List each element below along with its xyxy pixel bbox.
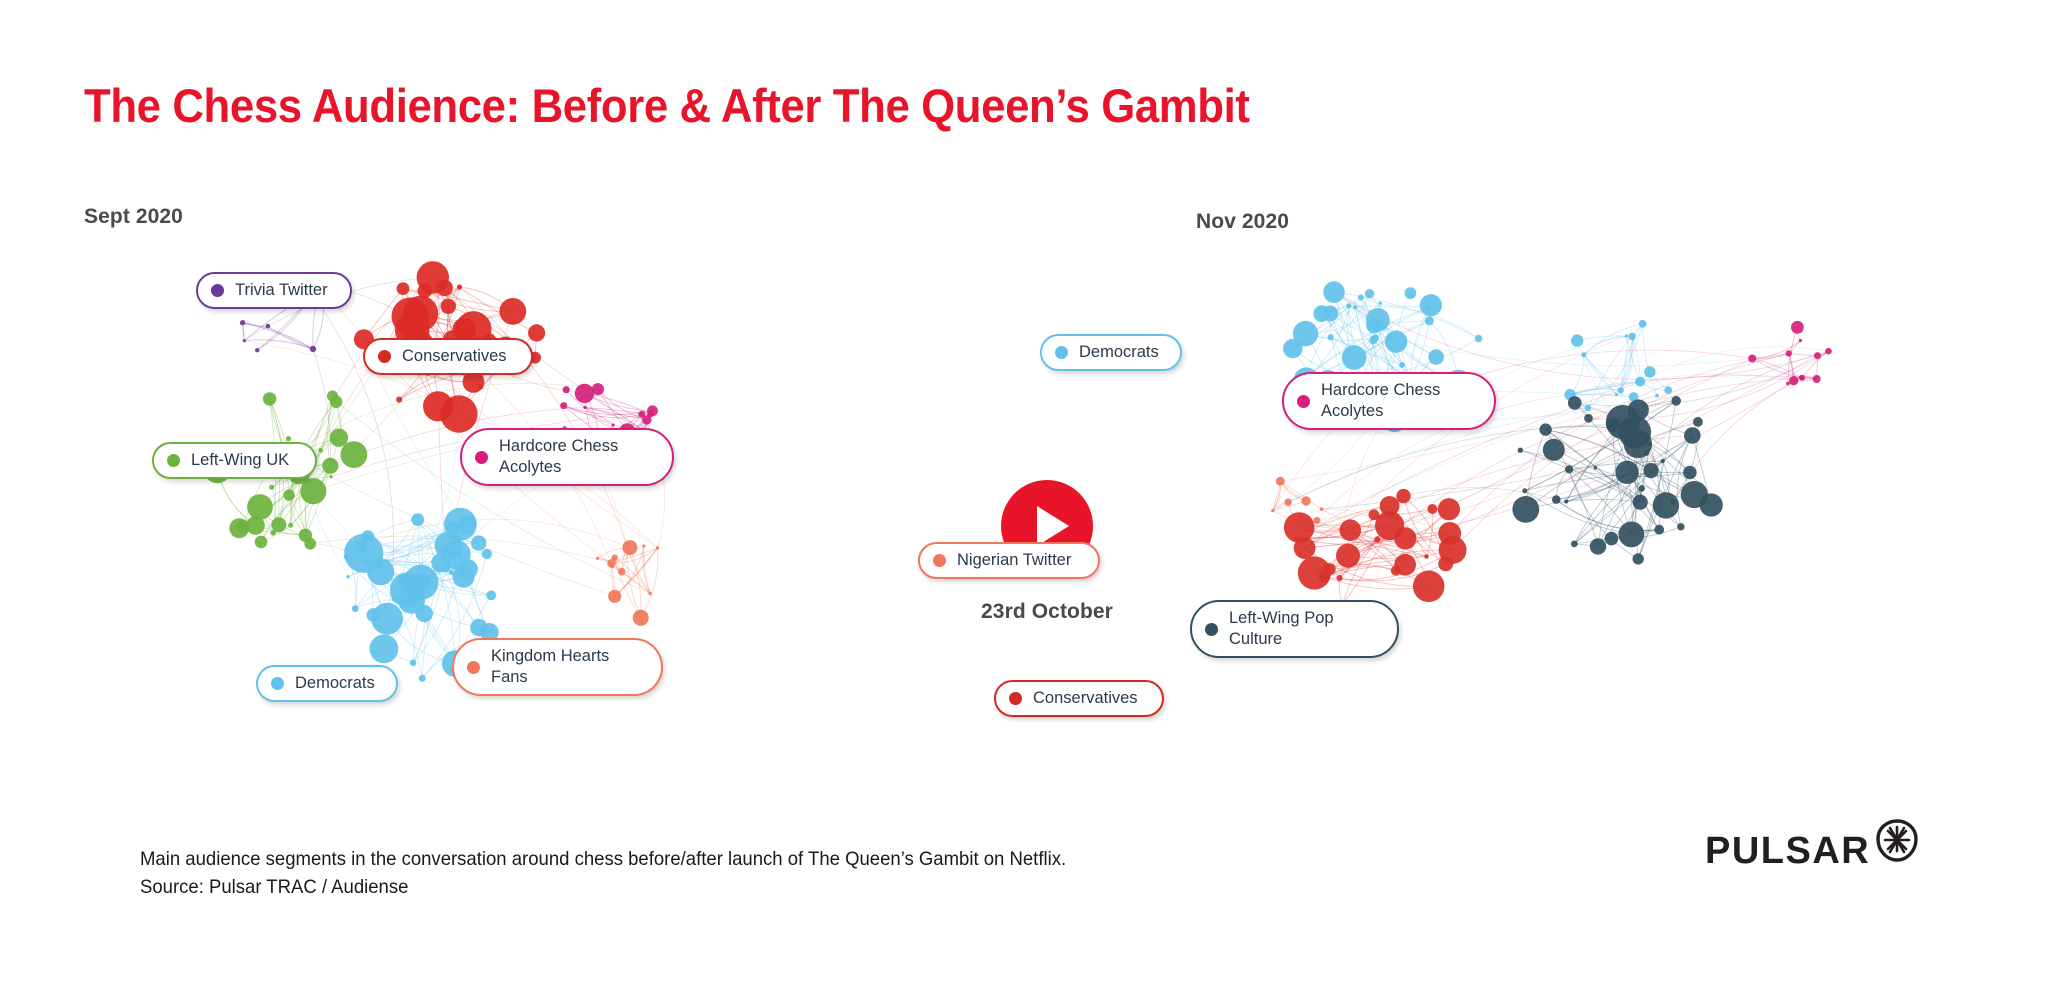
page-title: The Chess Audience: Before & After The Q…	[84, 78, 1250, 133]
graph-node	[1571, 541, 1578, 548]
graph-node	[263, 392, 276, 405]
graph-node	[240, 320, 245, 325]
graph-node	[1427, 504, 1437, 514]
graph-node	[300, 478, 326, 504]
graph-node	[647, 405, 658, 416]
graph-node	[269, 485, 274, 490]
graph-node	[608, 590, 621, 603]
footer-note: Main audience segments in the conversati…	[140, 845, 1066, 902]
graph-node	[1618, 387, 1624, 393]
graph-node	[1639, 320, 1647, 328]
graph-node	[1677, 523, 1684, 530]
graph-node	[322, 458, 338, 474]
graph-node	[1399, 362, 1405, 368]
graph-node	[642, 544, 645, 547]
graph-node	[1539, 423, 1551, 435]
segment-color-dot	[1297, 395, 1310, 408]
graph-node	[471, 535, 486, 550]
segment-color-dot	[1055, 346, 1068, 359]
segment-label-text: Kingdom HeartsFans	[491, 646, 609, 688]
segment-label-kingdom-hearts[interactable]: Kingdom HeartsFans	[452, 638, 663, 696]
graph-node	[1301, 496, 1310, 505]
graph-node	[411, 513, 424, 526]
graph-node	[1375, 511, 1404, 540]
graph-node	[247, 494, 273, 520]
graph-node	[1786, 382, 1790, 386]
pulsar-logo: PULSAR	[1705, 830, 1920, 873]
graph-node	[1664, 386, 1672, 394]
segment-label-text: Hardcore ChessAcolytes	[499, 436, 618, 478]
segment-label-text: Trivia Twitter	[235, 280, 328, 301]
graph-node	[330, 395, 343, 408]
graph-node	[441, 299, 456, 314]
graph-node	[271, 517, 286, 532]
pulsar-wordmark: PULSAR	[1705, 830, 1870, 873]
graph-node	[1439, 536, 1467, 564]
graph-node	[1671, 396, 1681, 406]
segment-color-dot	[378, 350, 391, 363]
graph-node	[656, 546, 659, 549]
graph-node	[1342, 345, 1367, 370]
graph-node	[1633, 553, 1644, 564]
graph-node	[243, 339, 246, 342]
graph-node	[1543, 439, 1565, 461]
graph-node	[596, 557, 599, 560]
network-svg-nov	[1200, 248, 1900, 748]
segment-color-dot	[1009, 692, 1022, 705]
graph-node	[390, 572, 425, 607]
graph-node	[1684, 427, 1701, 444]
graph-node	[1825, 348, 1832, 355]
graph-node	[396, 397, 402, 403]
graph-node	[1340, 519, 1362, 541]
graph-node	[1512, 496, 1539, 523]
graph-node	[266, 324, 271, 329]
graph-node	[1786, 350, 1792, 356]
graph-node	[1813, 375, 1821, 383]
graph-node	[1655, 394, 1659, 398]
graph-node	[1385, 331, 1407, 353]
graph-node	[560, 402, 567, 409]
graph-node	[1328, 334, 1334, 340]
graph-node	[310, 346, 316, 352]
graph-node	[499, 298, 526, 325]
graph-node	[1799, 339, 1802, 342]
graph-node	[1644, 366, 1655, 377]
graph-node	[1358, 294, 1364, 300]
graph-node	[1799, 375, 1805, 381]
graph-node	[1353, 305, 1357, 309]
segment-label-democrats[interactable]: Democrats	[1040, 334, 1182, 371]
graph-node	[486, 590, 496, 600]
segment-label-text: Left-Wing PopCulture	[1229, 608, 1334, 650]
segment-label-hardcore-chess[interactable]: Hardcore ChessAcolytes	[1282, 372, 1496, 430]
graph-node	[1475, 335, 1483, 343]
graph-node	[392, 298, 430, 336]
graph-node	[1438, 498, 1460, 520]
graph-node	[1313, 517, 1320, 524]
graph-node	[583, 406, 586, 409]
segment-label-text: Conservatives	[1033, 688, 1138, 709]
graph-node	[1594, 466, 1598, 470]
graph-node	[1276, 477, 1285, 486]
segment-label-text: Conservatives	[402, 346, 507, 367]
graph-node	[410, 660, 417, 667]
segment-label-nigerian-twitter[interactable]: Nigerian Twitter	[918, 542, 1100, 579]
graph-node	[419, 675, 426, 682]
segment-color-dot	[271, 677, 284, 690]
graph-node	[1814, 352, 1821, 359]
graph-node	[318, 448, 323, 453]
play-triangle-icon	[1037, 506, 1069, 546]
segment-color-dot	[475, 451, 488, 464]
graph-node	[1568, 396, 1582, 410]
graph-node	[1615, 461, 1638, 484]
graph-node	[1284, 512, 1315, 543]
graph-node	[1683, 466, 1697, 480]
graph-node	[1625, 334, 1628, 337]
graph-node	[1635, 377, 1645, 387]
segment-label-conservatives[interactable]: Conservatives	[994, 680, 1164, 717]
graph-node	[1320, 507, 1324, 511]
segment-color-dot	[1205, 623, 1218, 636]
graph-node	[607, 559, 616, 568]
graph-node	[330, 429, 348, 447]
graph-node	[1365, 289, 1374, 298]
graph-node	[371, 603, 403, 635]
graph-node	[283, 489, 294, 500]
graph-node	[352, 605, 359, 612]
graph-node	[255, 348, 259, 352]
graph-node	[1293, 321, 1318, 346]
graph-node	[1748, 355, 1756, 363]
segment-color-dot	[933, 554, 946, 567]
graph-node	[370, 634, 399, 663]
graph-node	[1643, 463, 1658, 478]
graph-node	[1571, 334, 1583, 346]
infographic-canvas: The Chess Audience: Before & After The Q…	[0, 0, 2048, 990]
graph-node	[482, 549, 492, 559]
graph-node	[341, 441, 368, 468]
graph-node	[440, 395, 477, 432]
graph-node	[1420, 294, 1442, 316]
segment-label-hardcore-chess[interactable]: Hardcore ChessAcolytes	[460, 428, 674, 486]
graph-node	[288, 523, 293, 528]
graph-node	[1298, 556, 1331, 589]
graph-node	[1661, 459, 1665, 463]
graph-node	[1336, 575, 1342, 581]
panel-date-nov: Nov 2020	[1196, 210, 1289, 234]
graph-node	[1366, 308, 1390, 332]
graph-node	[1428, 349, 1444, 365]
graph-node	[1693, 417, 1703, 427]
graph-node	[1654, 525, 1664, 535]
segment-color-dot	[467, 661, 480, 674]
segment-label-text: Nigerian Twitter	[957, 550, 1071, 571]
graph-node	[1789, 376, 1798, 385]
graph-node	[1681, 481, 1708, 508]
graph-node	[1336, 544, 1360, 568]
graph-node	[642, 415, 651, 424]
segment-label-text: Democrats	[295, 673, 375, 694]
graph-node	[1405, 287, 1417, 299]
segment-color-dot	[167, 454, 180, 467]
graph-node	[1369, 336, 1377, 344]
graph-node	[397, 282, 410, 295]
graph-node	[229, 518, 249, 538]
transition-date-label: 23rd October	[957, 600, 1137, 624]
graph-node	[444, 508, 477, 541]
segment-label-text: Hardcore ChessAcolytes	[1321, 380, 1440, 422]
graph-node	[1394, 554, 1416, 576]
graph-node	[417, 261, 449, 293]
graph-node	[457, 284, 462, 289]
graph-node	[1552, 495, 1561, 504]
graph-node	[1379, 302, 1382, 305]
graph-node	[1628, 333, 1636, 341]
graph-node	[1606, 405, 1640, 439]
graph-node	[1590, 538, 1606, 554]
segment-label-left-wing-pop[interactable]: Left-Wing PopCulture	[1190, 600, 1399, 658]
segment-label-left-wing-uk[interactable]: Left-Wing UK	[152, 442, 317, 479]
segment-color-dot	[211, 284, 224, 297]
network-graph-nov-2020	[1200, 248, 1900, 748]
graph-node	[1518, 448, 1523, 453]
graph-node	[1424, 554, 1429, 559]
graph-node	[528, 324, 545, 341]
segment-label-text: Democrats	[1079, 342, 1159, 363]
graph-node	[1619, 522, 1645, 548]
segment-label-conservatives[interactable]: Conservatives	[363, 338, 533, 375]
graph-node	[441, 540, 471, 570]
graph-node	[330, 475, 333, 478]
graph-node	[1323, 281, 1345, 303]
footer-line-2: Source: Pulsar TRAC / Audiense	[140, 873, 1066, 901]
graph-node	[1413, 571, 1445, 603]
graph-node	[1396, 489, 1410, 503]
graph-node	[633, 610, 649, 626]
segment-label-trivia-twitter[interactable]: Trivia Twitter	[196, 272, 352, 309]
segment-label-democrats[interactable]: Democrats	[256, 665, 398, 702]
graph-node	[563, 386, 570, 393]
graph-node	[1585, 405, 1592, 412]
graph-node	[1313, 305, 1330, 322]
graph-node	[1522, 488, 1527, 493]
panel-date-sept: Sept 2020	[84, 205, 183, 229]
segment-label-text: Left-Wing UK	[191, 450, 289, 471]
graph-node	[1565, 465, 1573, 473]
graph-node	[286, 436, 291, 441]
graph-node	[575, 384, 594, 403]
graph-node	[1284, 499, 1291, 506]
graph-node	[1605, 532, 1619, 546]
graph-node	[1584, 414, 1593, 423]
graph-node	[255, 536, 268, 549]
graph-node	[1615, 393, 1618, 396]
graph-node	[1346, 303, 1351, 308]
graph-node	[1374, 536, 1380, 542]
pulsar-starburst-icon	[1874, 818, 1920, 869]
footer-line-1: Main audience segments in the conversati…	[140, 845, 1066, 873]
graph-node	[1425, 316, 1434, 325]
graph-node	[346, 575, 349, 578]
graph-node	[1791, 321, 1804, 334]
graph-node	[618, 568, 626, 576]
graph-node	[1633, 495, 1648, 510]
graph-node	[1564, 499, 1568, 503]
graph-node	[344, 534, 383, 573]
graph-node	[1638, 485, 1645, 492]
graph-node	[649, 592, 652, 595]
graph-node	[299, 529, 312, 542]
graph-node	[612, 423, 615, 426]
graph-node	[1653, 492, 1679, 518]
graph-node	[622, 540, 637, 555]
graph-node	[1271, 509, 1274, 512]
graph-node	[1581, 352, 1586, 357]
